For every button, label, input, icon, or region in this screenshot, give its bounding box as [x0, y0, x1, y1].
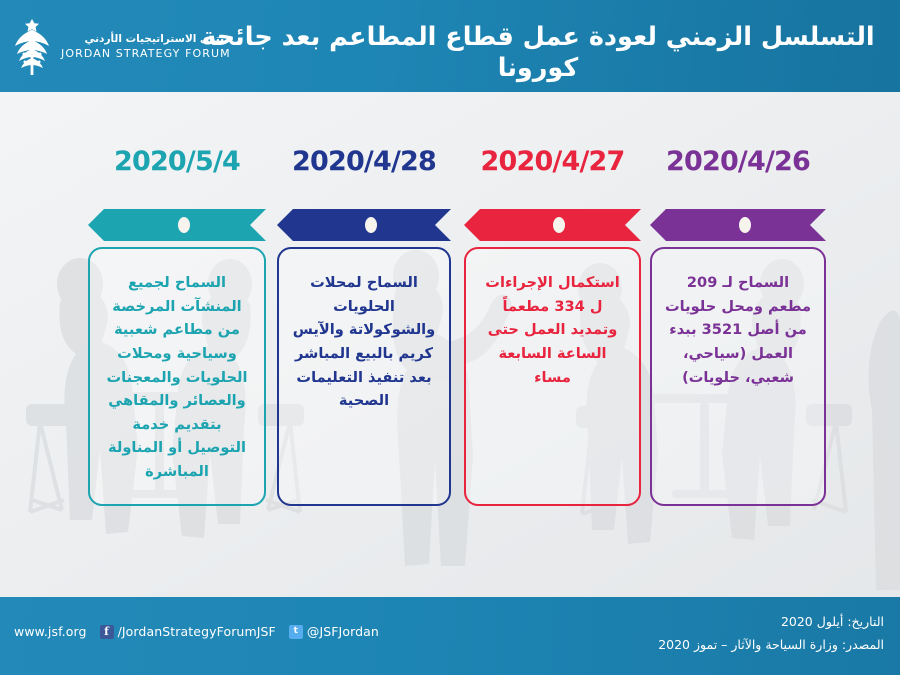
jsf-feather-logo-icon	[12, 18, 52, 76]
timeline-date-1: 2020/5/4	[88, 146, 266, 177]
timeline-card-text-3: استكمال الإجراءات ل 334 مطعماً وتمديد ال…	[478, 271, 627, 389]
timeline-card-text-2: السماح لمحلات الحلويات والشوكولاتة والآي…	[291, 271, 437, 413]
timeline-card-text-4: السماح لـ 209 مطعم ومحل حلويات من أصل 35…	[664, 271, 812, 389]
footer-bar: www.jsf.org f /JordanStrategyForumJSF t …	[0, 597, 900, 675]
timeline-card-1: السماح لجميع المنشآت المرخصة من مطاعم شع…	[88, 247, 266, 506]
timeline-date-3: 2020/4/27	[464, 146, 641, 177]
facebook-link[interactable]: f /JordanStrategyForumJSF	[100, 624, 276, 639]
timeline-card-4: السماح لـ 209 مطعم ومحل حلويات من أصل 35…	[650, 247, 826, 506]
timeline-date-4: 2020/4/26	[650, 146, 826, 177]
website-link[interactable]: www.jsf.org	[14, 624, 87, 639]
footer-meta-group: التاريخ: أيلول 2020 المصدر: وزارة السياح…	[658, 610, 884, 656]
twitter-icon: t	[289, 625, 303, 639]
twitter-handle: @JSFJordan	[307, 624, 379, 639]
facebook-handle: /JordanStrategyForumJSF	[118, 624, 276, 639]
timeline-date-2: 2020/4/28	[277, 146, 451, 177]
facebook-icon: f	[100, 625, 114, 639]
header-bar: منتدى الاستراتيجيات الأردني JORDAN STRAT…	[0, 0, 900, 92]
footer-social-group: www.jsf.org f /JordanStrategyForumJSF t …	[14, 624, 379, 639]
timeline-chevron-4	[650, 209, 826, 241]
timeline-card-text-1: السماح لجميع المنشآت المرخصة من مطاعم شع…	[102, 271, 252, 484]
twitter-link[interactable]: t @JSFJordan	[289, 624, 379, 639]
publication-date: التاريخ: أيلول 2020	[658, 610, 884, 633]
infographic-page: منتدى الاستراتيجيات الأردني JORDAN STRAT…	[0, 0, 900, 675]
timeline-chevron-3	[464, 209, 641, 241]
timeline-card-3: استكمال الإجراءات ل 334 مطعماً وتمديد ال…	[464, 247, 641, 506]
page-title: التسلسل الزمني لعودة عمل قطاع المطاعم بع…	[198, 22, 878, 83]
source-note: المصدر: وزارة السياحة والآثار – تموز 202…	[658, 633, 884, 656]
timeline-chevron-1	[88, 209, 266, 241]
timeline-container: 2020/5/4 السماح لجميع المنشآت المرخصة من…	[0, 92, 900, 597]
timeline-card-2: السماح لمحلات الحلويات والشوكولاتة والآي…	[277, 247, 451, 506]
timeline-chevron-2	[277, 209, 451, 241]
